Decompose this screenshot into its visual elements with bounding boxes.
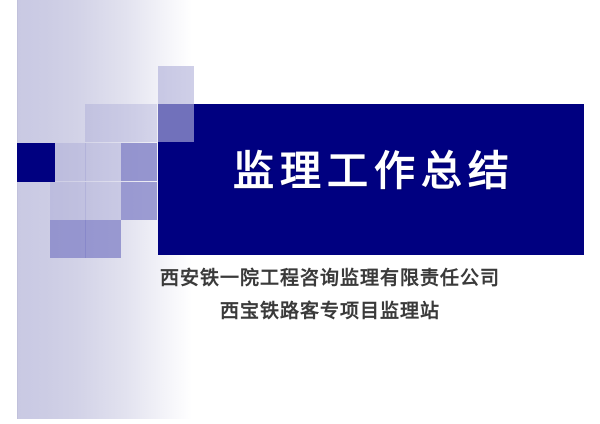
decor-square [85,220,121,258]
subtitle-line-company: 西安铁一院工程咨询监理有限责任公司 [110,262,550,295]
decor-square [158,66,194,104]
navy-accent-square [17,143,55,182]
left-gradient-band-edge [17,0,18,419]
decor-square-overlay [158,104,194,142]
title-slide: 监理工作总结 西安铁一院工程咨询监理有限责任公司 西宝铁路客专项目监理站 [0,0,600,424]
slide-subtitle: 西安铁一院工程咨询监理有限责任公司 西宝铁路客专项目监理站 [110,262,550,328]
decor-square [121,143,157,181]
decor-square [85,143,121,181]
subtitle-line-station: 西宝铁路客专项目监理站 [110,295,550,328]
slide-title: 监理工作总结 [158,146,584,196]
decor-square [121,104,157,142]
decor-square [85,182,121,220]
decor-square [50,143,86,181]
decor-square [85,104,121,142]
decor-square [50,220,86,258]
decor-square [50,182,86,220]
decor-square [121,182,157,220]
